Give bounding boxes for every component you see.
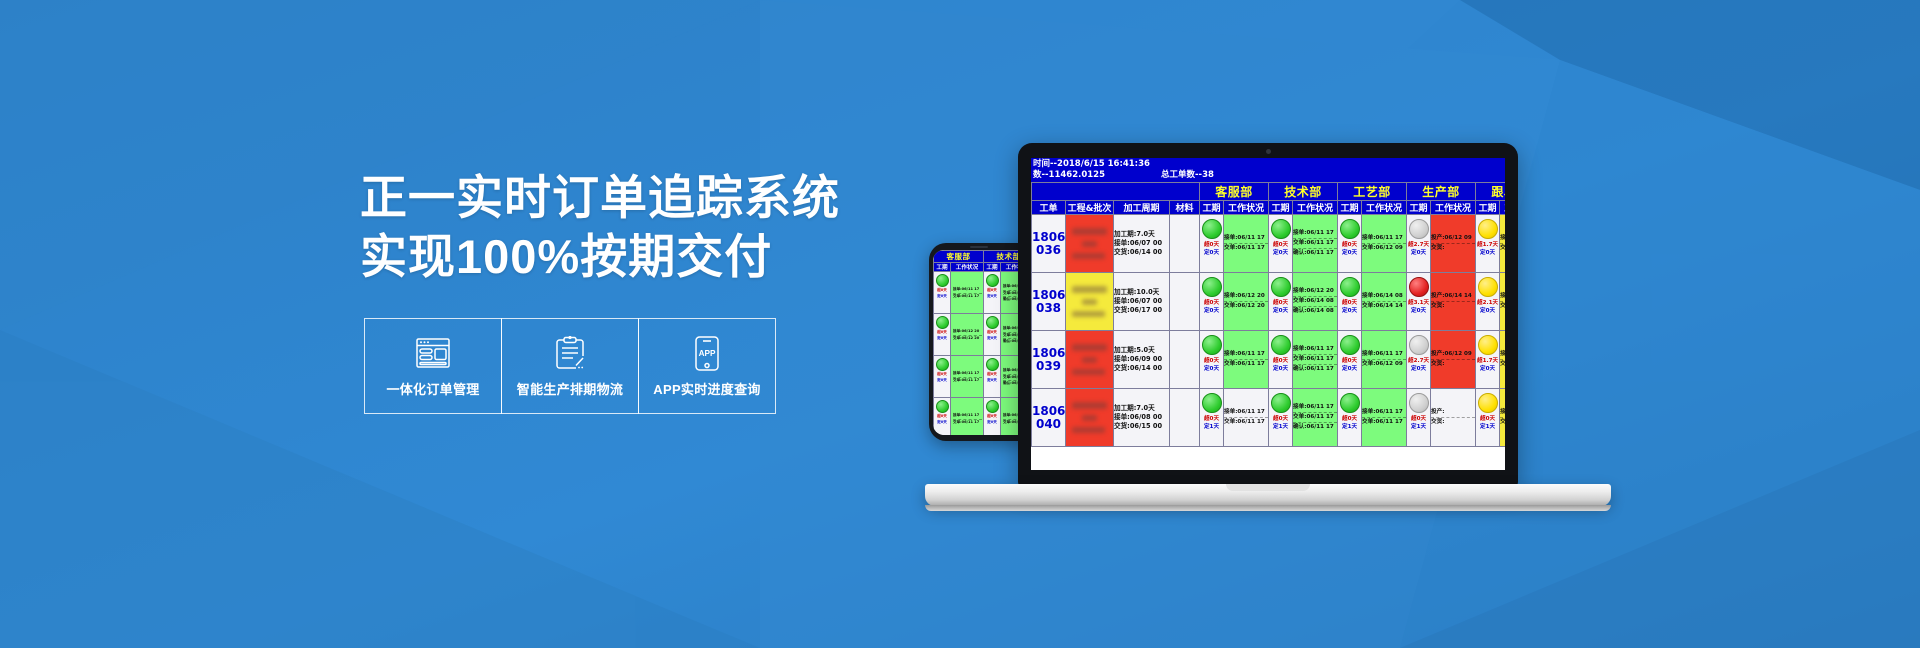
column-header: 工作状况 bbox=[1224, 201, 1269, 215]
order-number-suffix: 038 bbox=[1032, 302, 1065, 315]
cycle-line: 接单:06/09 00 bbox=[1114, 355, 1169, 364]
planned-tag: 定1天 bbox=[1407, 423, 1430, 431]
material-cell bbox=[1170, 389, 1200, 447]
order-tracking-dashboard: 时间--2018/6/15 16:41:36 数--11462.0125 总工单… bbox=[1031, 158, 1505, 447]
duration-cell[interactable]: 超0天定1天 bbox=[1338, 389, 1362, 447]
redacted-bar bbox=[1072, 344, 1108, 351]
duration-cell[interactable]: 超0天定0天 bbox=[1269, 273, 1293, 331]
status-line: 交货: bbox=[1500, 301, 1505, 311]
work-status-cell[interactable]: 投产:06/14 14交货: bbox=[1431, 273, 1476, 331]
status-indicator-green bbox=[1271, 219, 1291, 239]
redacted-bar bbox=[1082, 415, 1098, 421]
work-status-cell[interactable]: 投产:交货: bbox=[1431, 389, 1476, 447]
phone-department-header: 客服部 bbox=[934, 251, 984, 263]
planned-tag: 定0天 bbox=[1407, 307, 1430, 315]
column-header: 工程&批次 bbox=[1066, 201, 1114, 215]
planned-tag: 定0天 bbox=[1476, 365, 1499, 373]
material-cell bbox=[1170, 215, 1200, 273]
project-batch-cell[interactable] bbox=[1066, 215, 1114, 273]
phone-status-line: 交单:06/11 17 bbox=[953, 293, 982, 300]
mobile-app-icon: APP bbox=[695, 335, 719, 372]
phone-column-header: 工期 bbox=[934, 263, 951, 272]
status-indicator-yellow bbox=[1478, 335, 1498, 355]
planned-tag: 定0天 bbox=[1338, 307, 1361, 315]
status-indicator-green bbox=[1202, 335, 1222, 355]
status-line: 交单:06/11 17 bbox=[1293, 412, 1337, 422]
column-header: 工期 bbox=[1338, 201, 1362, 215]
phone-duration-cell[interactable]: 超0天定0天 bbox=[984, 356, 1001, 398]
material-cell bbox=[1170, 331, 1200, 389]
feature-list: 一体化订单管理 智能生产排期物流 APP bbox=[364, 318, 775, 414]
processing-cycle-cell: 加工期:7.0天接单:06/08 00交货:06/15 00 bbox=[1114, 389, 1170, 447]
status-line: 交单:06/11 17 bbox=[1224, 359, 1268, 369]
planned-tag: 定0天 bbox=[1200, 249, 1223, 257]
planned-tag: 定0天 bbox=[1476, 249, 1499, 257]
cycle-line: 交货:06/17 00 bbox=[1114, 306, 1169, 315]
overdue-tag: 超0天 bbox=[1476, 415, 1499, 423]
phone-planned-tag: 定0天 bbox=[984, 420, 1000, 426]
phone-status-line: 交单:06/11 17 bbox=[953, 377, 982, 384]
status-indicator-green bbox=[986, 358, 999, 371]
phone-duration-cell[interactable]: 超0天定0天 bbox=[934, 356, 951, 398]
status-line: 交单:06/12 09 bbox=[1362, 359, 1406, 369]
phone-planned-tag: 定0天 bbox=[934, 294, 950, 300]
phone-duration-cell[interactable]: 超0天定0天 bbox=[984, 272, 1001, 314]
laptop-screen[interactable]: 时间--2018/6/15 16:41:36 数--11462.0125 总工单… bbox=[1031, 158, 1505, 470]
phone-duration-cell[interactable]: 超0天定0天 bbox=[934, 398, 951, 436]
phone-duration-cell[interactable]: 超0天定0天 bbox=[934, 314, 951, 356]
status-line: 交单:06/12 09 bbox=[1362, 243, 1406, 253]
order-number-suffix: 040 bbox=[1032, 418, 1065, 431]
department-header: 跟单部 bbox=[1476, 183, 1505, 201]
work-status-cell[interactable]: 接单:06/11 17交单:06/11 17 bbox=[1224, 331, 1269, 389]
status-indicator-gray bbox=[1409, 335, 1429, 355]
status-line: 接单:06/12 20 bbox=[1293, 287, 1337, 296]
order-number-prefix: 1806 bbox=[1032, 289, 1065, 302]
phone-status-line: 接单:06/12 20 bbox=[953, 329, 982, 335]
feature-item-production-schedule[interactable]: 智能生产排期物流 bbox=[501, 318, 639, 414]
phone-status-line: 接单:06/11 17 bbox=[953, 413, 982, 419]
order-number-suffix: 036 bbox=[1032, 244, 1065, 257]
department-header-row: 客服部技术部工艺部生产部跟单部 bbox=[1032, 183, 1506, 201]
status-indicator-green bbox=[936, 400, 949, 413]
status-indicator-green bbox=[1202, 277, 1222, 297]
status-line: 交货: bbox=[1500, 417, 1505, 427]
order-number-cell: 1806038 bbox=[1032, 273, 1066, 331]
phone-status-line: 接单:06/11 17 bbox=[953, 287, 982, 293]
overdue-tag: 超0天 bbox=[1338, 241, 1361, 249]
duration-cell[interactable]: 超2.1天定0天 bbox=[1476, 273, 1500, 331]
feature-label: 一体化订单管理 bbox=[386, 379, 479, 398]
overdue-tag: 超3.1天 bbox=[1407, 299, 1430, 307]
phone-column-header: 工期 bbox=[984, 263, 1001, 272]
phone-column-header: 工作状况 bbox=[951, 263, 984, 272]
status-indicator-green bbox=[986, 400, 999, 413]
status-indicator-green bbox=[1340, 335, 1360, 355]
cycle-line: 接单:06/07 00 bbox=[1114, 239, 1169, 248]
status-line: 接单:06/11 17 bbox=[1362, 350, 1406, 359]
work-status-cell[interactable]: 接单:06/11 17交单:06/11 17确认:06/11 17 bbox=[1293, 389, 1338, 447]
duration-cell[interactable]: 超0天定0天 bbox=[1269, 331, 1293, 389]
status-line: 确认:06/11 17 bbox=[1293, 422, 1337, 432]
duration-cell[interactable]: 超1.7天定0天 bbox=[1476, 331, 1500, 389]
status-line: 接单:06/11 17 bbox=[1293, 229, 1337, 238]
redacted-bar bbox=[1072, 369, 1105, 375]
status-line: 确认:06/14 08 bbox=[1293, 306, 1337, 316]
phone-work-status-cell[interactable]: 接单:06/11 17交单:06/11 17 bbox=[951, 356, 984, 398]
project-batch-cell[interactable] bbox=[1066, 389, 1114, 447]
status-line: 交单:06/11 17 bbox=[1224, 417, 1268, 427]
status-indicator-gray bbox=[1409, 219, 1429, 239]
redacted-bar bbox=[1082, 299, 1098, 305]
status-indicator-green bbox=[936, 358, 949, 371]
status-line: 接单:06/11 17 bbox=[1362, 234, 1406, 243]
duration-cell[interactable]: 超0天定1天 bbox=[1200, 389, 1224, 447]
planned-tag: 定0天 bbox=[1407, 249, 1430, 257]
status-indicator-green bbox=[1271, 277, 1291, 297]
app-badge-text: APP bbox=[699, 349, 716, 358]
cycle-line: 加工期:10.0天 bbox=[1114, 288, 1169, 297]
order-number-cell: 1806036 bbox=[1032, 215, 1066, 273]
feature-item-order-management[interactable]: 一体化订单管理 bbox=[364, 318, 502, 414]
topbar-total-orders: 总工单数--38 bbox=[1161, 170, 1214, 181]
feature-label: 智能生产排期物流 bbox=[517, 379, 623, 398]
status-line: 交单:06/11 17 bbox=[1293, 354, 1337, 364]
processing-cycle-cell: 加工期:7.0天接单:06/07 00交货:06/14 00 bbox=[1114, 215, 1170, 273]
project-batch-cell[interactable] bbox=[1066, 273, 1114, 331]
phone-planned-tag: 定0天 bbox=[934, 420, 950, 426]
phone-planned-tag: 定0天 bbox=[984, 294, 1000, 300]
status-line: 交单:06/11 17 bbox=[1362, 417, 1406, 427]
project-batch-cell[interactable] bbox=[1066, 331, 1114, 389]
overdue-tag: 超0天 bbox=[1200, 299, 1223, 307]
overdue-tag: 超2.1天 bbox=[1476, 299, 1499, 307]
cycle-line: 接单:06/08 00 bbox=[1114, 413, 1169, 422]
planned-tag: 定1天 bbox=[1476, 423, 1499, 431]
planned-tag: 定1天 bbox=[1200, 423, 1223, 431]
work-status-cell[interactable]: 接单:06/14 08交单:06/14 14 bbox=[1362, 273, 1407, 331]
column-header: 工期 bbox=[1200, 201, 1224, 215]
column-header: 工单 bbox=[1032, 201, 1066, 215]
duration-cell[interactable]: 超0天定0天 bbox=[1200, 273, 1224, 331]
processing-cycle-cell: 加工期:10.0天接单:06/07 00交货:06/17 00 bbox=[1114, 273, 1170, 331]
status-indicator-green bbox=[1340, 277, 1360, 297]
overdue-tag: 超0天 bbox=[1269, 241, 1292, 249]
status-indicator-gray bbox=[1409, 393, 1429, 413]
duration-cell[interactable]: 超0天定1天 bbox=[1476, 389, 1500, 447]
duration-cell[interactable]: 超0天定0天 bbox=[1338, 273, 1362, 331]
table-row[interactable]: 1806036加工期:7.0天接单:06/07 00交货:06/14 00超0天… bbox=[1032, 215, 1506, 273]
planned-tag: 定0天 bbox=[1200, 307, 1223, 315]
phone-duration-cell[interactable]: 超0天定0天 bbox=[984, 398, 1001, 436]
phone-work-status-cell[interactable]: 接单:06/11 17交单:06/11 17 bbox=[951, 398, 984, 436]
department-header: 技术部 bbox=[1269, 183, 1338, 201]
redacted-bar bbox=[1072, 286, 1108, 293]
status-line: 投产:06/14 14 bbox=[1431, 292, 1475, 301]
work-status-cell[interactable]: 接单:交货: bbox=[1500, 389, 1505, 447]
order-number-cell: 1806039 bbox=[1032, 331, 1066, 389]
planned-tag: 定1天 bbox=[1269, 423, 1292, 431]
work-status-cell[interactable]: 接单:交货: bbox=[1500, 273, 1505, 331]
dashboard-topbar: 时间--2018/6/15 16:41:36 数--11462.0125 总工单… bbox=[1031, 158, 1505, 182]
order-table[interactable]: 客服部技术部工艺部生产部跟单部工单工程&批次加工周期材料工期工作状况工期工作状况… bbox=[1031, 182, 1505, 447]
overdue-tag: 超0天 bbox=[1338, 299, 1361, 307]
work-status-cell[interactable]: 接单:06/11 17交单:06/12 09 bbox=[1362, 331, 1407, 389]
overdue-tag: 超0天 bbox=[1269, 415, 1292, 423]
status-line: 交单:06/14 08 bbox=[1293, 296, 1337, 306]
planned-tag: 定0天 bbox=[1338, 365, 1361, 373]
status-line: 接单:06/14 08 bbox=[1362, 292, 1406, 301]
work-status-cell[interactable]: 接单:06/12 20交单:06/14 08确认:06/14 08 bbox=[1293, 273, 1338, 331]
topbar-count: 数--11462.0125 bbox=[1033, 170, 1105, 181]
overdue-tag: 超0天 bbox=[1200, 415, 1223, 423]
status-indicator-green bbox=[1340, 393, 1360, 413]
material-cell bbox=[1170, 273, 1200, 331]
status-line: 交货: bbox=[1500, 359, 1505, 369]
planned-tag: 定0天 bbox=[1269, 249, 1292, 257]
work-status-cell[interactable]: 接单:交货: bbox=[1500, 215, 1505, 273]
column-header: 加工周期 bbox=[1114, 201, 1170, 215]
status-line: 投产: bbox=[1431, 408, 1475, 417]
topbar-time: 时间--2018/6/15 16:41:36 bbox=[1033, 159, 1150, 170]
status-indicator-green bbox=[1271, 393, 1291, 413]
order-number-prefix: 1806 bbox=[1032, 405, 1065, 418]
duration-cell[interactable]: 超0天定1天 bbox=[1269, 389, 1293, 447]
duration-cell[interactable]: 超2.7天定0天 bbox=[1407, 331, 1431, 389]
overdue-tag: 超0天 bbox=[1200, 241, 1223, 249]
overdue-tag: 超1.7天 bbox=[1476, 357, 1499, 365]
topbar-row-time: 时间--2018/6/15 16:41:36 bbox=[1033, 159, 1505, 170]
phone-status-line: 交单:06/11 17 bbox=[953, 419, 982, 426]
hero-copy: 正一实时订单追踪系统 实现100%按期交付 bbox=[360, 168, 880, 286]
status-line: 投产:06/12 09 bbox=[1431, 350, 1475, 359]
overdue-tag: 超0天 bbox=[1269, 299, 1292, 307]
status-line: 交货: bbox=[1431, 243, 1475, 253]
status-indicator-green bbox=[986, 316, 999, 329]
status-line: 接单:06/11 17 bbox=[1224, 234, 1268, 243]
status-line: 确认:06/11 17 bbox=[1293, 364, 1337, 374]
dashboard-window-icon bbox=[416, 335, 450, 372]
work-status-cell[interactable]: 投产:06/12 09交货: bbox=[1431, 215, 1476, 273]
duration-cell[interactable]: 超0天定0天 bbox=[1338, 215, 1362, 273]
column-header: 工作状况 bbox=[1500, 201, 1505, 215]
order-number-suffix: 039 bbox=[1032, 360, 1065, 373]
phone-work-status-cell[interactable]: 接单:06/12 20交单:06/12 20 bbox=[951, 314, 984, 356]
planned-tag: 定0天 bbox=[1407, 365, 1430, 373]
department-header: 工艺部 bbox=[1338, 183, 1407, 201]
work-status-cell[interactable]: 接单:06/11 17交单:06/11 17确认:06/11 17 bbox=[1293, 331, 1338, 389]
department-header: 生产部 bbox=[1407, 183, 1476, 201]
phone-duration-cell[interactable]: 超0天定0天 bbox=[984, 314, 1001, 356]
cycle-line: 交货:06/15 00 bbox=[1114, 422, 1169, 431]
status-line: 交单:06/11 17 bbox=[1293, 238, 1337, 248]
redacted-bar bbox=[1072, 228, 1108, 235]
laptop-lid: 时间--2018/6/15 16:41:36 数--11462.0125 总工单… bbox=[1018, 143, 1518, 487]
duration-cell[interactable]: 超0天定1天 bbox=[1407, 389, 1431, 447]
work-status-cell[interactable]: 接单:06/11 17交单:06/11 17 bbox=[1362, 389, 1407, 447]
column-header: 工作状况 bbox=[1362, 201, 1407, 215]
department-header: 客服部 bbox=[1200, 183, 1269, 201]
status-indicator-yellow bbox=[1478, 277, 1498, 297]
feature-label: APP实时进度查询 bbox=[653, 379, 760, 398]
table-row[interactable]: 1806039加工期:5.0天接单:06/09 00交货:06/14 00超0天… bbox=[1032, 331, 1506, 389]
planned-tag: 定0天 bbox=[1269, 365, 1292, 373]
duration-cell[interactable]: 超0天定0天 bbox=[1200, 331, 1224, 389]
overdue-tag: 超0天 bbox=[1269, 357, 1292, 365]
redacted-bar bbox=[1072, 427, 1105, 433]
column-header: 工期 bbox=[1407, 201, 1431, 215]
status-line: 接单: bbox=[1500, 350, 1505, 359]
status-line: 投产:06/12 09 bbox=[1431, 234, 1475, 243]
table-row[interactable]: 1806038加工期:10.0天接单:06/07 00交货:06/17 00超0… bbox=[1032, 273, 1506, 331]
status-line: 交货: bbox=[1500, 243, 1505, 253]
column-header: 工作状况 bbox=[1431, 201, 1476, 215]
table-row[interactable]: 1806040加工期:7.0天接单:06/08 00交货:06/15 00超0天… bbox=[1032, 389, 1506, 447]
overdue-tag: 超0天 bbox=[1407, 415, 1430, 423]
cycle-line: 加工期:7.0天 bbox=[1114, 404, 1169, 413]
overdue-tag: 超1.7天 bbox=[1476, 241, 1499, 249]
laptop-mockup: 时间--2018/6/15 16:41:36 数--11462.0125 总工单… bbox=[1018, 143, 1518, 487]
status-line: 接单:06/11 17 bbox=[1362, 408, 1406, 417]
status-indicator-red bbox=[1409, 277, 1429, 297]
status-line: 接单: bbox=[1500, 408, 1505, 417]
column-header: 材料 bbox=[1170, 201, 1200, 215]
duration-cell[interactable]: 超0天定0天 bbox=[1338, 331, 1362, 389]
phone-work-status-cell[interactable]: 接单:06/11 17交单:06/11 17 bbox=[951, 272, 984, 314]
redacted-bar bbox=[1082, 357, 1098, 363]
overdue-tag: 超0天 bbox=[1338, 357, 1361, 365]
work-status-cell[interactable]: 接单:06/11 17交单:06/12 09 bbox=[1362, 215, 1407, 273]
redacted-bar bbox=[1072, 311, 1105, 317]
headline-line-1: 正一实时订单追踪系统 bbox=[360, 168, 880, 227]
status-line: 接单: bbox=[1500, 234, 1505, 243]
status-line: 交单:06/12 20 bbox=[1224, 301, 1268, 311]
work-status-cell[interactable]: 接单:06/11 17交单:06/11 17确认:06/11 17 bbox=[1293, 215, 1338, 273]
redacted-bar bbox=[1082, 241, 1098, 247]
feature-item-app-progress[interactable]: APP APP实时进度查询 bbox=[638, 318, 776, 414]
status-line: 交货: bbox=[1431, 301, 1475, 311]
headline-line-2: 实现100%按期交付 bbox=[360, 227, 880, 286]
phone-duration-cell[interactable]: 超0天定0天 bbox=[934, 272, 951, 314]
status-indicator-green bbox=[1202, 393, 1222, 413]
cycle-line: 交货:06/14 00 bbox=[1114, 248, 1169, 257]
duration-cell[interactable]: 超1.7天定0天 bbox=[1476, 215, 1500, 273]
work-status-cell[interactable]: 投产:06/12 09交货: bbox=[1431, 331, 1476, 389]
column-header: 工期 bbox=[1269, 201, 1293, 215]
planned-tag: 定0天 bbox=[1200, 365, 1223, 373]
planned-tag: 定0天 bbox=[1476, 307, 1499, 315]
status-line: 接单:06/11 17 bbox=[1224, 408, 1268, 417]
overdue-tag: 超2.7天 bbox=[1407, 357, 1430, 365]
phone-status-line: 接单:06/11 17 bbox=[953, 371, 982, 377]
cycle-line: 加工期:7.0天 bbox=[1114, 230, 1169, 239]
status-line: 接单:06/11 17 bbox=[1293, 403, 1337, 412]
status-indicator-yellow bbox=[1478, 393, 1498, 413]
column-header-row: 工单工程&批次加工周期材料工期工作状况工期工作状况工期工作状况工期工作状况工期工… bbox=[1032, 201, 1506, 215]
redacted-bar bbox=[1072, 253, 1105, 259]
cycle-line: 接单:06/07 00 bbox=[1114, 297, 1169, 306]
phone-planned-tag: 定0天 bbox=[934, 336, 950, 342]
status-indicator-green bbox=[1340, 219, 1360, 239]
status-indicator-green bbox=[1202, 219, 1222, 239]
topbar-row-counts: 数--11462.0125 总工单数--38 bbox=[1033, 170, 1505, 181]
redacted-bar bbox=[1072, 402, 1108, 409]
status-indicator-green bbox=[936, 316, 949, 329]
order-number-prefix: 1806 bbox=[1032, 231, 1065, 244]
status-line: 交单:06/11 17 bbox=[1224, 243, 1268, 253]
cycle-line: 交货:06/14 00 bbox=[1114, 364, 1169, 373]
status-indicator-green bbox=[986, 274, 999, 287]
status-line: 接单:06/11 17 bbox=[1224, 350, 1268, 359]
phone-planned-tag: 定0天 bbox=[984, 378, 1000, 384]
work-status-cell[interactable]: 接单:交货: bbox=[1500, 331, 1505, 389]
laptop-base-foot bbox=[925, 505, 1611, 511]
column-header: 工作状况 bbox=[1293, 201, 1338, 215]
status-line: 交货: bbox=[1431, 417, 1475, 427]
overdue-tag: 超0天 bbox=[1338, 415, 1361, 423]
laptop-base bbox=[925, 484, 1611, 506]
clipboard-schedule-icon bbox=[555, 335, 585, 372]
duration-cell[interactable]: 超3.1天定0天 bbox=[1407, 273, 1431, 331]
work-status-cell[interactable]: 接单:06/11 17交单:06/11 17 bbox=[1224, 389, 1269, 447]
status-line: 接单:06/11 17 bbox=[1293, 345, 1337, 354]
status-indicator-yellow bbox=[1478, 219, 1498, 239]
planned-tag: 定0天 bbox=[1338, 249, 1361, 257]
work-status-cell[interactable]: 接单:06/12 20交单:06/12 20 bbox=[1224, 273, 1269, 331]
overdue-tag: 超2.7天 bbox=[1407, 241, 1430, 249]
cycle-line: 加工期:5.0天 bbox=[1114, 346, 1169, 355]
phone-planned-tag: 定0天 bbox=[984, 336, 1000, 342]
planned-tag: 定1天 bbox=[1338, 423, 1361, 431]
status-line: 确认:06/11 17 bbox=[1293, 248, 1337, 258]
order-number-prefix: 1806 bbox=[1032, 347, 1065, 360]
status-line: 接单:06/12 20 bbox=[1224, 292, 1268, 301]
processing-cycle-cell: 加工期:5.0天接单:06/09 00交货:06/14 00 bbox=[1114, 331, 1170, 389]
status-indicator-green bbox=[936, 274, 949, 287]
work-status-cell[interactable]: 接单:06/11 17交单:06/11 17 bbox=[1224, 215, 1269, 273]
column-header: 工期 bbox=[1476, 201, 1500, 215]
duration-cell[interactable]: 超0天定0天 bbox=[1269, 215, 1293, 273]
status-line: 接单: bbox=[1500, 292, 1505, 301]
phone-planned-tag: 定0天 bbox=[934, 378, 950, 384]
phone-notch bbox=[961, 243, 1005, 250]
duration-cell[interactable]: 超2.7天定0天 bbox=[1407, 215, 1431, 273]
status-line: 交货: bbox=[1431, 359, 1475, 369]
status-line: 交单:06/14 14 bbox=[1362, 301, 1406, 311]
phone-status-line: 交单:06/12 20 bbox=[953, 335, 982, 342]
order-number-cell: 1806040 bbox=[1032, 389, 1066, 447]
overdue-tag: 超0天 bbox=[1200, 357, 1223, 365]
duration-cell[interactable]: 超0天定0天 bbox=[1200, 215, 1224, 273]
status-indicator-green bbox=[1271, 335, 1291, 355]
planned-tag: 定0天 bbox=[1269, 307, 1292, 315]
